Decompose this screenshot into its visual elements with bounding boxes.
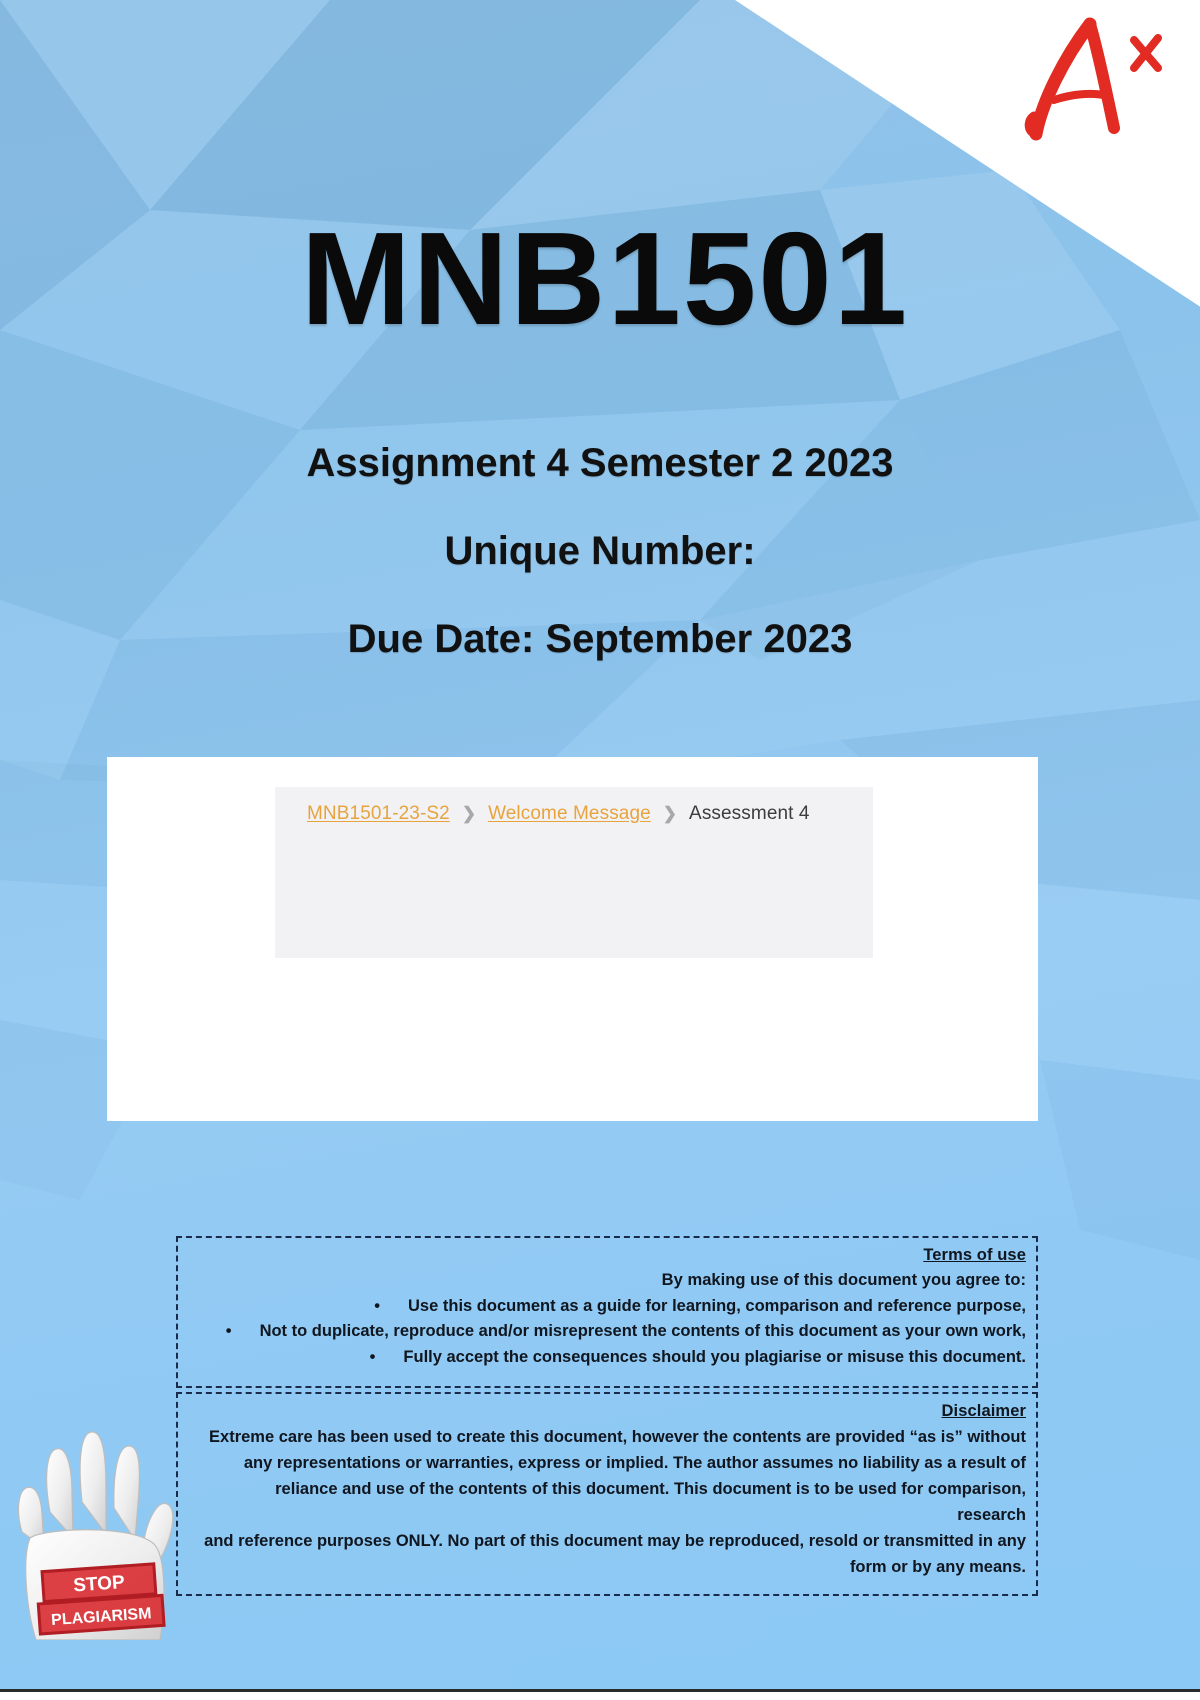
- disclaimer-line: and reference purposes ONLY. No part of …: [204, 1528, 1026, 1554]
- due-date-label: Due Date: September 2023: [0, 619, 1200, 659]
- unique-number-label: Unique Number:: [0, 531, 1200, 571]
- breadcrumb-item-course[interactable]: MNB1501-23-S2: [307, 803, 450, 825]
- disclaimer-line: Extreme care has been used to create thi…: [204, 1424, 1026, 1450]
- a-plus-grade-icon: [998, 6, 1178, 146]
- terms-bullet-item: •Not to duplicate, reproduce and/or misr…: [186, 1319, 1028, 1345]
- terms-bullet-item: •Use this document as a guide for learni…: [186, 1294, 1028, 1320]
- bullet-icon: •: [370, 1345, 376, 1371]
- disclaimer-line: any representations or warranties, expre…: [204, 1450, 1026, 1476]
- document-cover-page: MNB1501 Assignment 4 Semester 2 2023 Uni…: [0, 0, 1200, 1700]
- terms-bullet-text: Fully accept the consequences should you…: [403, 1348, 1026, 1366]
- terms-of-use-box: Terms of use By making use of this docum…: [176, 1236, 1038, 1388]
- breadcrumb-item-welcome-message[interactable]: Welcome Message: [488, 803, 651, 825]
- screenshot-card: MNB1501-23-S2 ❯ Welcome Message ❯ Assess…: [107, 757, 1038, 1121]
- disclaimer-line: reliance and use of the contents of this…: [204, 1476, 1026, 1528]
- chevron-right-icon: ❯: [663, 804, 677, 824]
- disclaimer-box: Disclaimer Extreme care has been used to…: [176, 1392, 1038, 1596]
- title-block: MNB1501 Assignment 4 Semester 2 2023 Uni…: [0, 212, 1200, 659]
- terms-of-use-intro: By making use of this document you agree…: [186, 1268, 1026, 1294]
- terms-of-use-list: •Use this document as a guide for learni…: [186, 1294, 1028, 1371]
- page-title-course-code: MNB1501: [0, 212, 1200, 347]
- disclaimer-line: form or by any means.: [204, 1554, 1026, 1580]
- terms-bullet-text: Use this document as a guide for learnin…: [408, 1297, 1026, 1315]
- page-bottom-strip: [0, 1692, 1200, 1700]
- bullet-icon: •: [226, 1319, 232, 1345]
- stamp-line-1: STOP: [73, 1572, 126, 1597]
- stop-plagiarism-hand-icon: STOP PLAGIARISM: [14, 1372, 192, 1640]
- chevron-right-icon: ❯: [462, 804, 476, 824]
- terms-bullet-text: Not to duplicate, reproduce and/or misre…: [260, 1322, 1026, 1340]
- page-bottom-rule: [0, 1689, 1200, 1692]
- terms-bullet-item: •Fully accept the consequences should yo…: [186, 1345, 1028, 1371]
- breadcrumb: MNB1501-23-S2 ❯ Welcome Message ❯ Assess…: [307, 803, 810, 825]
- disclaimer-heading: Disclaimer: [186, 1402, 1026, 1421]
- bullet-icon: •: [374, 1294, 380, 1320]
- terms-of-use-heading: Terms of use: [186, 1246, 1026, 1265]
- assignment-subtitle: Assignment 4 Semester 2 2023: [0, 443, 1200, 483]
- breadcrumb-item-assessment-4: Assessment 4: [689, 803, 810, 825]
